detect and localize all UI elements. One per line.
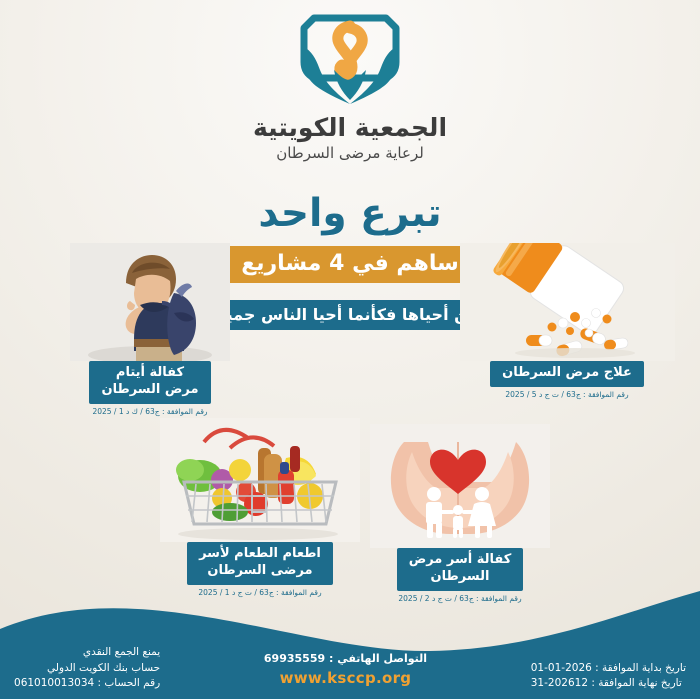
project-caption: كفالة أيتام مرض السرطان	[89, 361, 210, 404]
footer-contact: التواصل الهاتفي : 69935559 www.ksccp.org	[264, 651, 427, 691]
footer-approval-dates: تاريخ بداية الموافقة : 2026-01-01 تاريخ …	[531, 661, 686, 691]
phone-number[interactable]: التواصل الهاتفي : 69935559	[264, 651, 427, 667]
website-link[interactable]: www.ksccp.org	[264, 668, 427, 690]
pill-bottle-with-capsules-photo	[460, 243, 675, 361]
donation-poster: الجمعية الكويتية لرعاية مرضى السرطان تبر…	[0, 0, 700, 699]
account-number: رقم الحساب : 061010013034	[14, 676, 160, 691]
footer-bank-info: يمنع الجمع النقدي حساب بنك الكويت الدولي…	[14, 645, 160, 691]
project-approval-number: رقم الموافقة : ج63 / ت ج د 5 / 2025	[452, 390, 682, 399]
hands-holding-heart-family-photo	[370, 424, 550, 548]
project-caption: كفالة أسر مرض السرطان	[397, 548, 524, 591]
project-approval-number: رقم الموافقة : ج63 / ك د 1 / 2025	[52, 407, 248, 416]
shield-hands-ribbon-logo	[284, 8, 416, 112]
project-card-food: اطعام الطعام لأسر مرضى السرطان رقم الموا…	[152, 418, 368, 597]
bank-name: حساب بنك الكويت الدولي	[14, 661, 160, 676]
no-cash-notice: يمنع الجمع النقدي	[14, 645, 160, 660]
approval-end-date: تاريخ نهاية الموافقة : 202612-31	[531, 676, 686, 691]
grocery-basket-photo	[160, 418, 360, 542]
page-title: تبرع واحد	[0, 191, 700, 236]
project-caption: اطعام الطعام لأسر مرضى السرطان	[187, 542, 333, 585]
org-subtitle: لرعاية مرضى السرطان	[0, 145, 700, 162]
project-card-family: كفالة أسر مرض السرطان رقم الموافقة : ج63…	[355, 424, 565, 603]
approval-start-date: تاريخ بداية الموافقة : 2026-01-01	[531, 661, 686, 676]
sub-headline-band: ساهم في 4 مشاريع	[215, 246, 485, 283]
footer: تاريخ بداية الموافقة : 2026-01-01 تاريخ …	[0, 645, 700, 691]
project-caption: علاج مرض السرطان	[490, 361, 644, 387]
project-card-orphans: كفالة أيتام مرض السرطان رقم الموافقة : ج…	[52, 243, 248, 416]
project-card-treatment: علاج مرض السرطان رقم الموافقة : ج63 / ت …	[452, 243, 682, 399]
logo-block: الجمعية الكويتية لرعاية مرضى السرطان	[0, 8, 700, 161]
sad-boy-with-backpack-photo	[70, 243, 230, 361]
org-name: الجمعية الكويتية	[0, 114, 700, 142]
